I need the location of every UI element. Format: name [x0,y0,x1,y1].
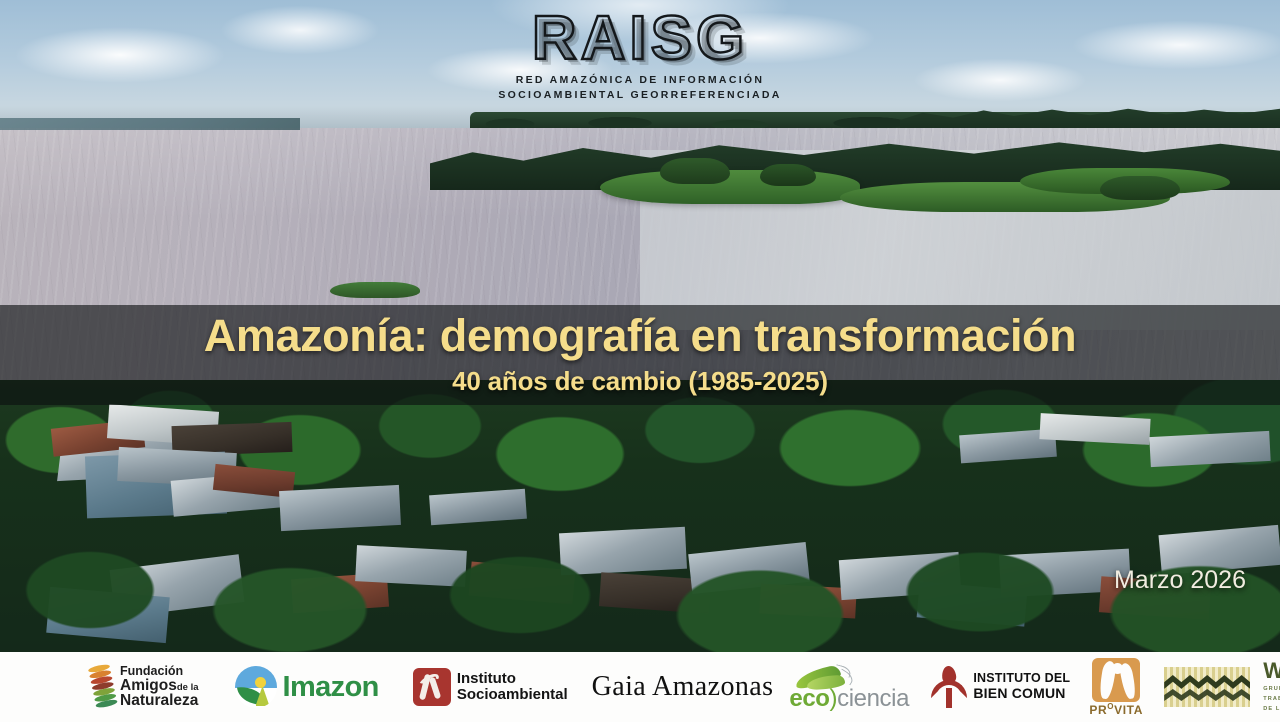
feather-icon [88,663,119,711]
ibc-line-1: INSTITUTO DEL [973,672,1070,686]
wataniba-sub-3: DE LA AMAZONIA [1263,705,1280,713]
red-person-flame-icon [931,666,967,708]
floating-vegetation [330,282,420,298]
partner-logo-ecociencia[interactable]: eco)ciencia [789,663,917,711]
isa-line-2: Socioambiental [457,687,568,703]
partner-logo-isa[interactable]: Instituto Socioambiental [413,668,568,706]
pv-name-a: PR [1089,703,1107,717]
pv-name-b: VITA [1114,703,1143,717]
partner-name-gaia-amazonas: Gaia Amazonas [592,671,774,703]
partner-logo-provita[interactable]: PROVITA [1088,658,1144,716]
zigzag-pattern-icon [1164,667,1250,707]
partner-name-ibc: INSTITUTO DEL BIEN COMUN [973,672,1070,701]
presentation-date: Marzo 2026 [1114,566,1246,595]
partner-name-isa: Instituto Socioambiental [457,671,568,703]
partner-name-imazon: Imazon [283,671,379,704]
orange-figures-icon [1092,658,1140,702]
partner-logo-wataniba[interactable]: Wataniba GRUPO DE TRABAJO SOCIOAMBIENTAL… [1164,660,1280,714]
ibc-line-2: BIEN COMUN [973,686,1070,701]
eco-name-light: ciencia [837,685,909,712]
fan-line-2-main: Amigos [120,677,177,694]
raisg-logo: RAISG RED AMAZÓNICA DE INFORMACIÓN SOCIO… [0,10,1280,103]
partner-name-wataniba: Wataniba GRUPO DE TRABAJO SOCIOAMBIENTAL… [1263,660,1280,714]
foreground-town [0,380,1280,652]
raisg-tagline-line1: RED AMAZÓNICA DE INFORMACIÓN [0,73,1280,88]
wataniba-sub-1: GRUPO DE [1263,685,1280,693]
raisg-tagline: RED AMAZÓNICA DE INFORMACIÓN SOCIOAMBIEN… [0,73,1280,103]
raisg-wordmark: RAISG [532,10,748,69]
raisg-tagline-line2: SOCIOAMBIENTAL GEORREFERENCIADA [0,88,1280,103]
tree-canopy-lower [0,500,1280,652]
title-block: Amazonía: demografía en transformación 4… [0,312,1280,397]
partner-name-provita: PROVITA [1088,702,1144,717]
partner-logo-ibc[interactable]: INSTITUTO DEL BIEN COMUN [931,666,1070,708]
partner-name-fan: Fundación Amigosde la Naturaleza [120,665,199,709]
fan-line-2-small: de la [177,682,199,693]
partner-logo-bar: Fundación Amigosde la Naturaleza Imazon … [0,652,1280,722]
island-vegetation-3 [1100,176,1180,200]
wataniba-name: Wataniba [1263,660,1280,682]
red-square-figure-icon [413,668,451,706]
partner-logo-gaia-amazonas[interactable]: Gaia Amazonas [592,671,774,703]
title-slide: RAISG RED AMAZÓNICA DE INFORMACIÓN SOCIO… [0,0,1280,722]
island-vegetation-2 [760,164,816,186]
fan-line-3: Naturaleza [120,693,199,709]
circle-landscape-icon [235,666,277,708]
partner-logo-fan[interactable]: Fundación Amigosde la Naturaleza [92,665,199,709]
left-shore-strip [0,118,300,130]
partner-name-ecociencia: eco)ciencia [789,685,909,713]
eco-name-bold: eco [789,685,829,712]
fan-line-2: Amigosde la [120,678,199,694]
page-subtitle: 40 años de cambio (1985-2025) [0,366,1280,397]
wataniba-sub-2: TRABAJO SOCIOAMBIENTAL [1263,695,1280,703]
island-vegetation-1 [660,158,730,184]
river-island-1 [600,170,860,204]
isa-line-1: Instituto [457,671,568,687]
page-title: Amazonía: demografía en transformación [0,312,1280,359]
eco-name-paren: ) [830,685,838,712]
partner-logo-imazon[interactable]: Imazon [235,666,379,708]
rooftop [1149,431,1270,467]
